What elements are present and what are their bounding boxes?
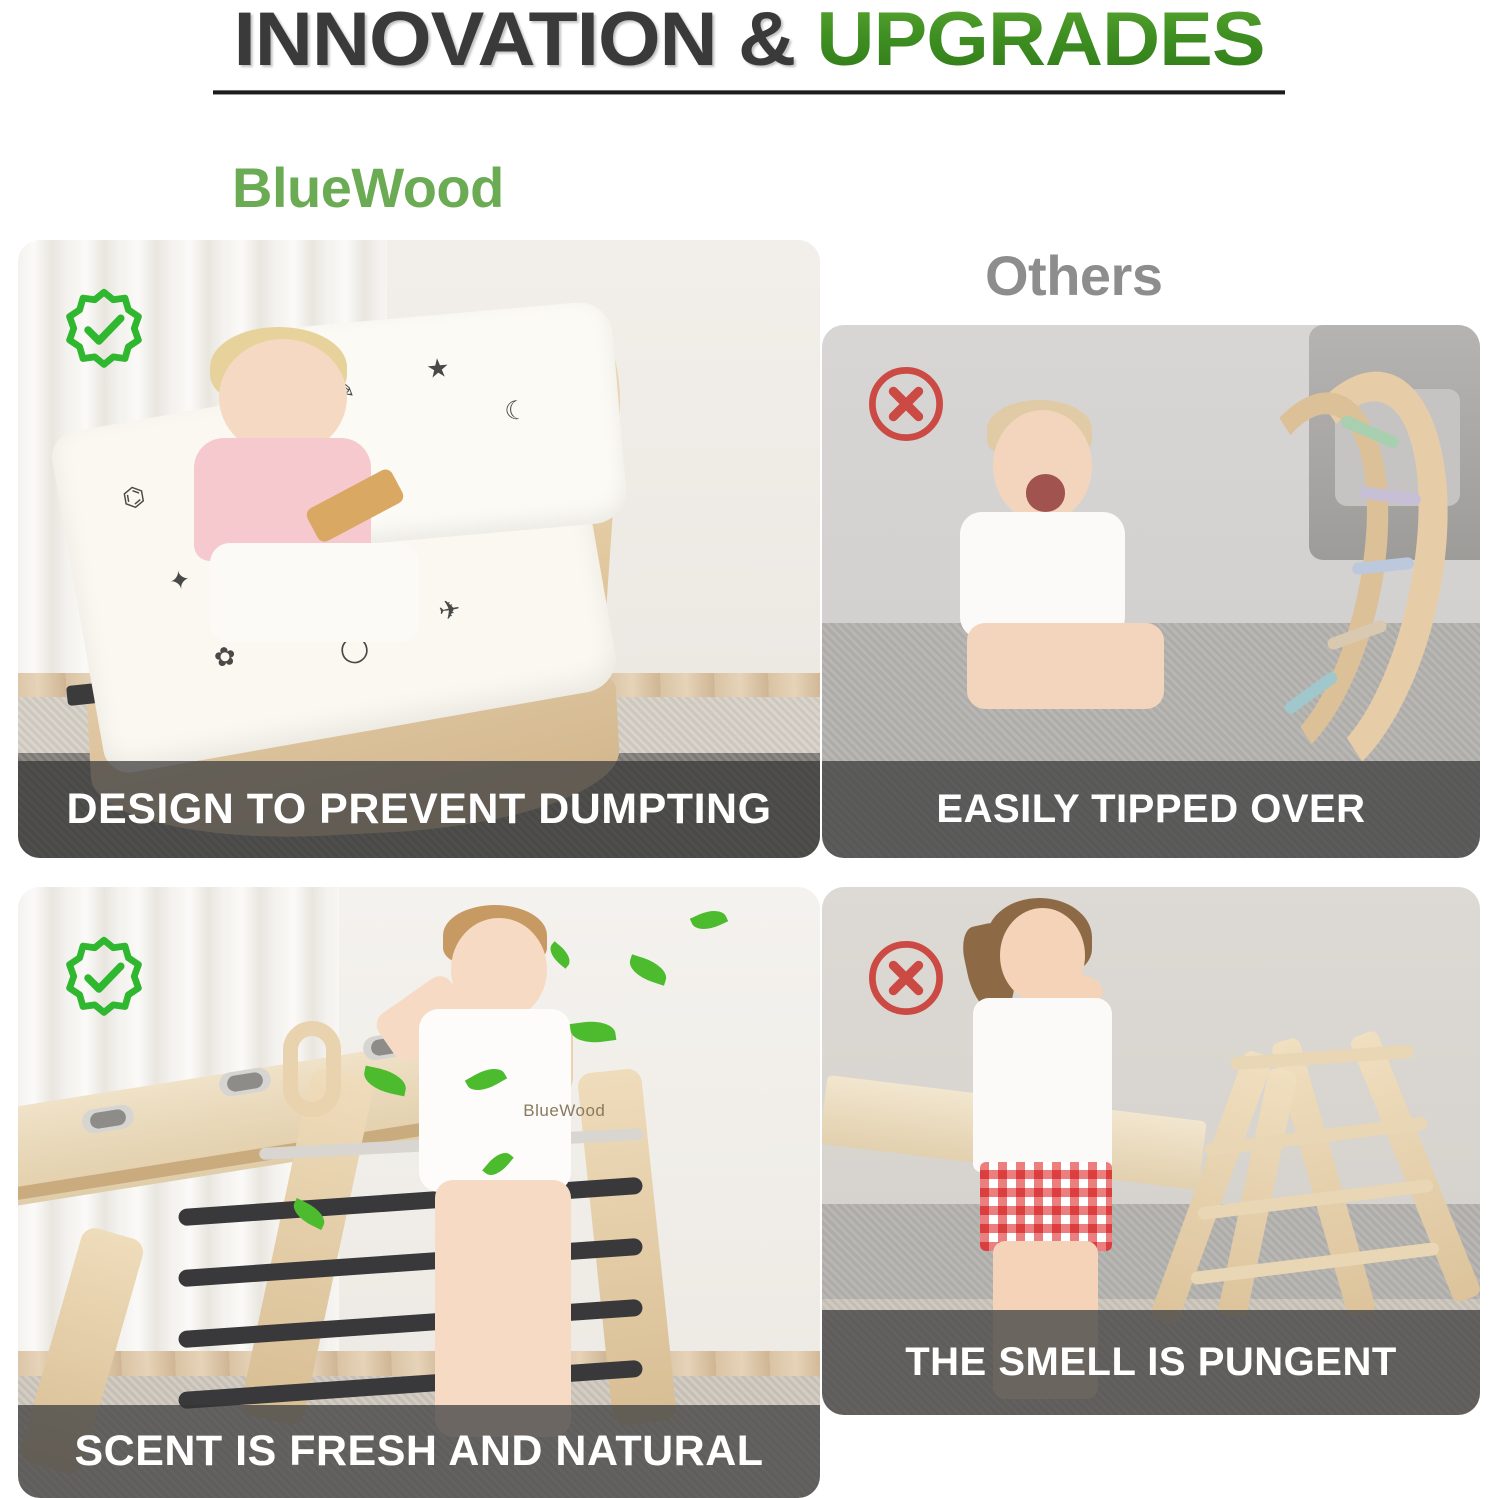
page-title-green: UPGRADES [816,0,1264,82]
comparison-panel-top-left[interactable]: ⌬ △ ☁ ◉ ✦ ★ ✏ ✿ ◯ ✈ ✎ ★ ☾ DESIGN TO PREV… [18,240,820,858]
column-heading-others: Others [985,243,1163,308]
title-divider [213,90,1285,95]
comparison-panel-top-right[interactable]: EASILY TIPPED OVER [822,325,1480,858]
cross-badge-icon [864,362,948,446]
caption-top-right: EASILY TIPPED OVER [822,761,1480,858]
column-heading-bluewood: BlueWood [232,155,504,220]
header-banner: INNOVATION & UPGRADES [0,0,1498,120]
comparison-panel-bottom-right[interactable]: THE SMELL IS PUNGENT [822,887,1480,1415]
baby-torso [960,512,1125,640]
product-brand-mark: BlueWood [523,1101,605,1121]
baby-legs [967,623,1164,708]
check-badge-icon [62,288,146,372]
caption-top-left: DESIGN TO PREVENT DUMPTING [18,761,820,858]
baby-legs [210,543,419,642]
comparison-panel-bottom-left[interactable]: BlueWood SCENT IS FRESH AND NATURAL [18,887,820,1498]
cross-badge-icon [864,936,948,1020]
caption-bottom-left: SCENT IS FRESH AND NATURAL [18,1405,820,1498]
girl-torso [973,998,1111,1172]
climber-handle-left [283,1021,341,1117]
baby-crying-mouth [1026,474,1065,511]
page-title-dark: INNOVATION & [233,0,816,82]
caption-bottom-right: THE SMELL IS PUNGENT [822,1310,1480,1415]
girl-plaid-shorts [980,1162,1112,1252]
check-badge-icon [62,936,146,1020]
baby-legs [435,1180,571,1437]
page-title: INNOVATION & UPGRADES [0,0,1498,83]
